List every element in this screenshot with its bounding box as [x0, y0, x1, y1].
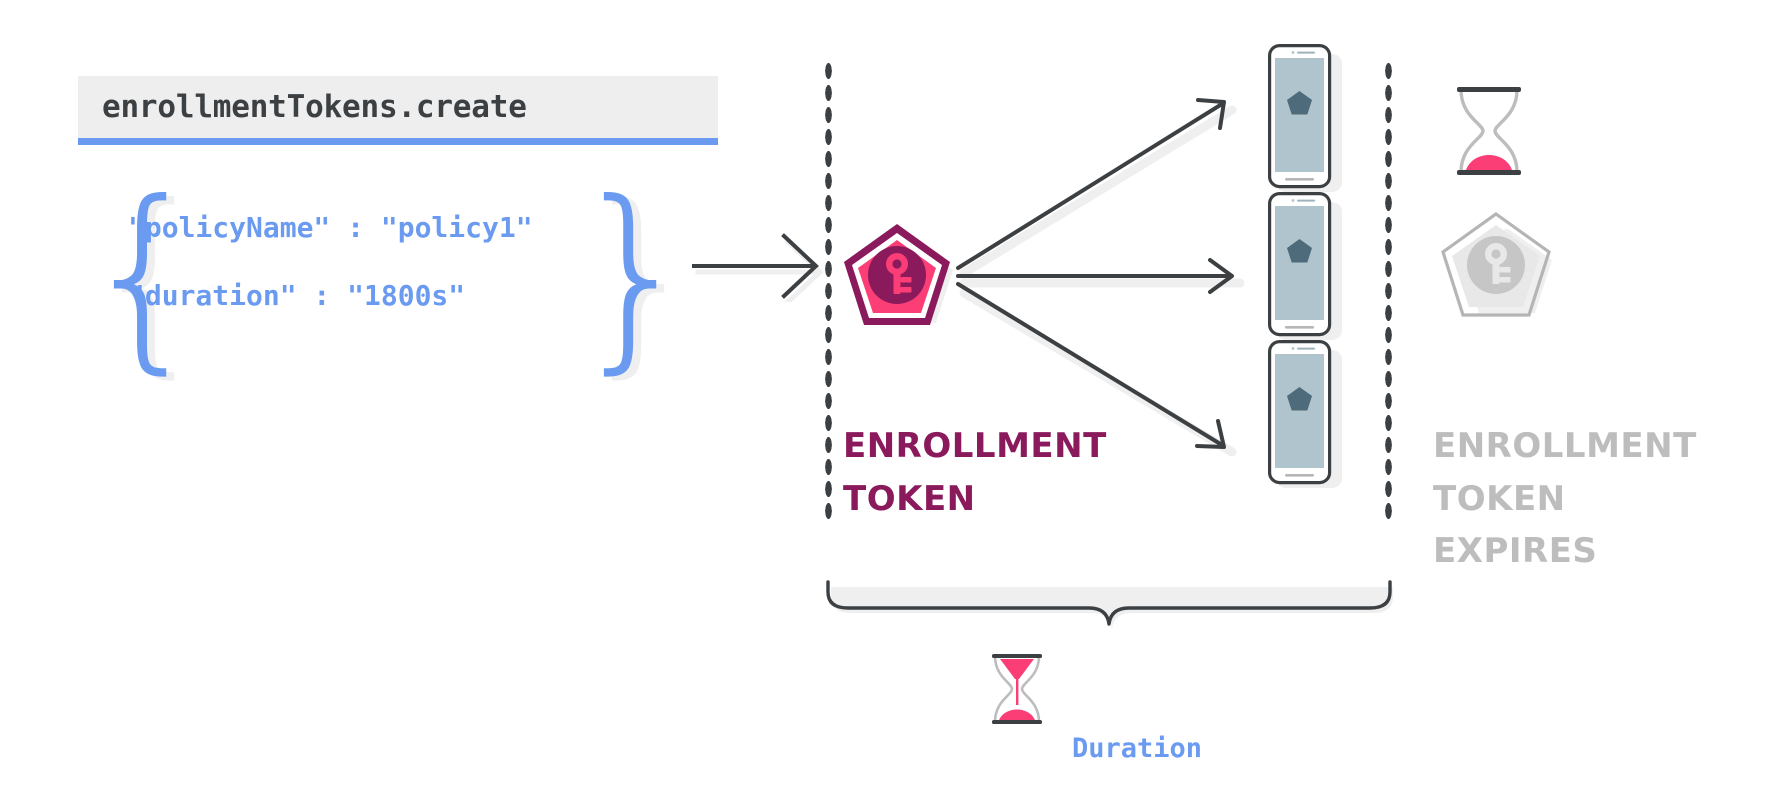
api-method-box: enrollmentTokens.create [78, 76, 718, 138]
payload-lines: "policyName" : "policy1" "duration" : "1… [128, 214, 588, 350]
device-phone-2 [1268, 192, 1342, 340]
hourglass-expired-icon [1449, 82, 1529, 180]
duration-span-brace [824, 578, 1394, 636]
device-phone-1 [1268, 44, 1342, 192]
distribution-arrows [950, 70, 1250, 490]
expired-token-badge [1437, 208, 1555, 326]
duration-caption: Duration 1800 seconds [1072, 658, 1492, 795]
payload-line-policyname: "policyName" : "policy1" [128, 214, 588, 242]
api-method-label: enrollmentTokens.create [78, 89, 527, 125]
brace-close: } [570, 204, 697, 348]
diagram-canvas: enrollmentTokens.create { } "policyName"… [0, 0, 1789, 795]
request-arrow [690, 232, 830, 302]
timeline-start-rule [824, 60, 833, 525]
api-method-underline [78, 138, 718, 145]
hourglass-duration-icon [986, 650, 1048, 728]
request-payload: { } "policyName" : "policy1" "duration" … [80, 196, 680, 356]
token-expires-label: ENROLLMENT TOKEN EXPIRES [1433, 420, 1733, 578]
device-phone-3 [1268, 340, 1342, 488]
payload-line-duration: "duration" : "1800s" [128, 282, 588, 310]
enrollment-token-badge [838, 218, 956, 336]
duration-caption-line1: Duration [1072, 731, 1492, 767]
timeline-end-rule [1384, 60, 1393, 525]
